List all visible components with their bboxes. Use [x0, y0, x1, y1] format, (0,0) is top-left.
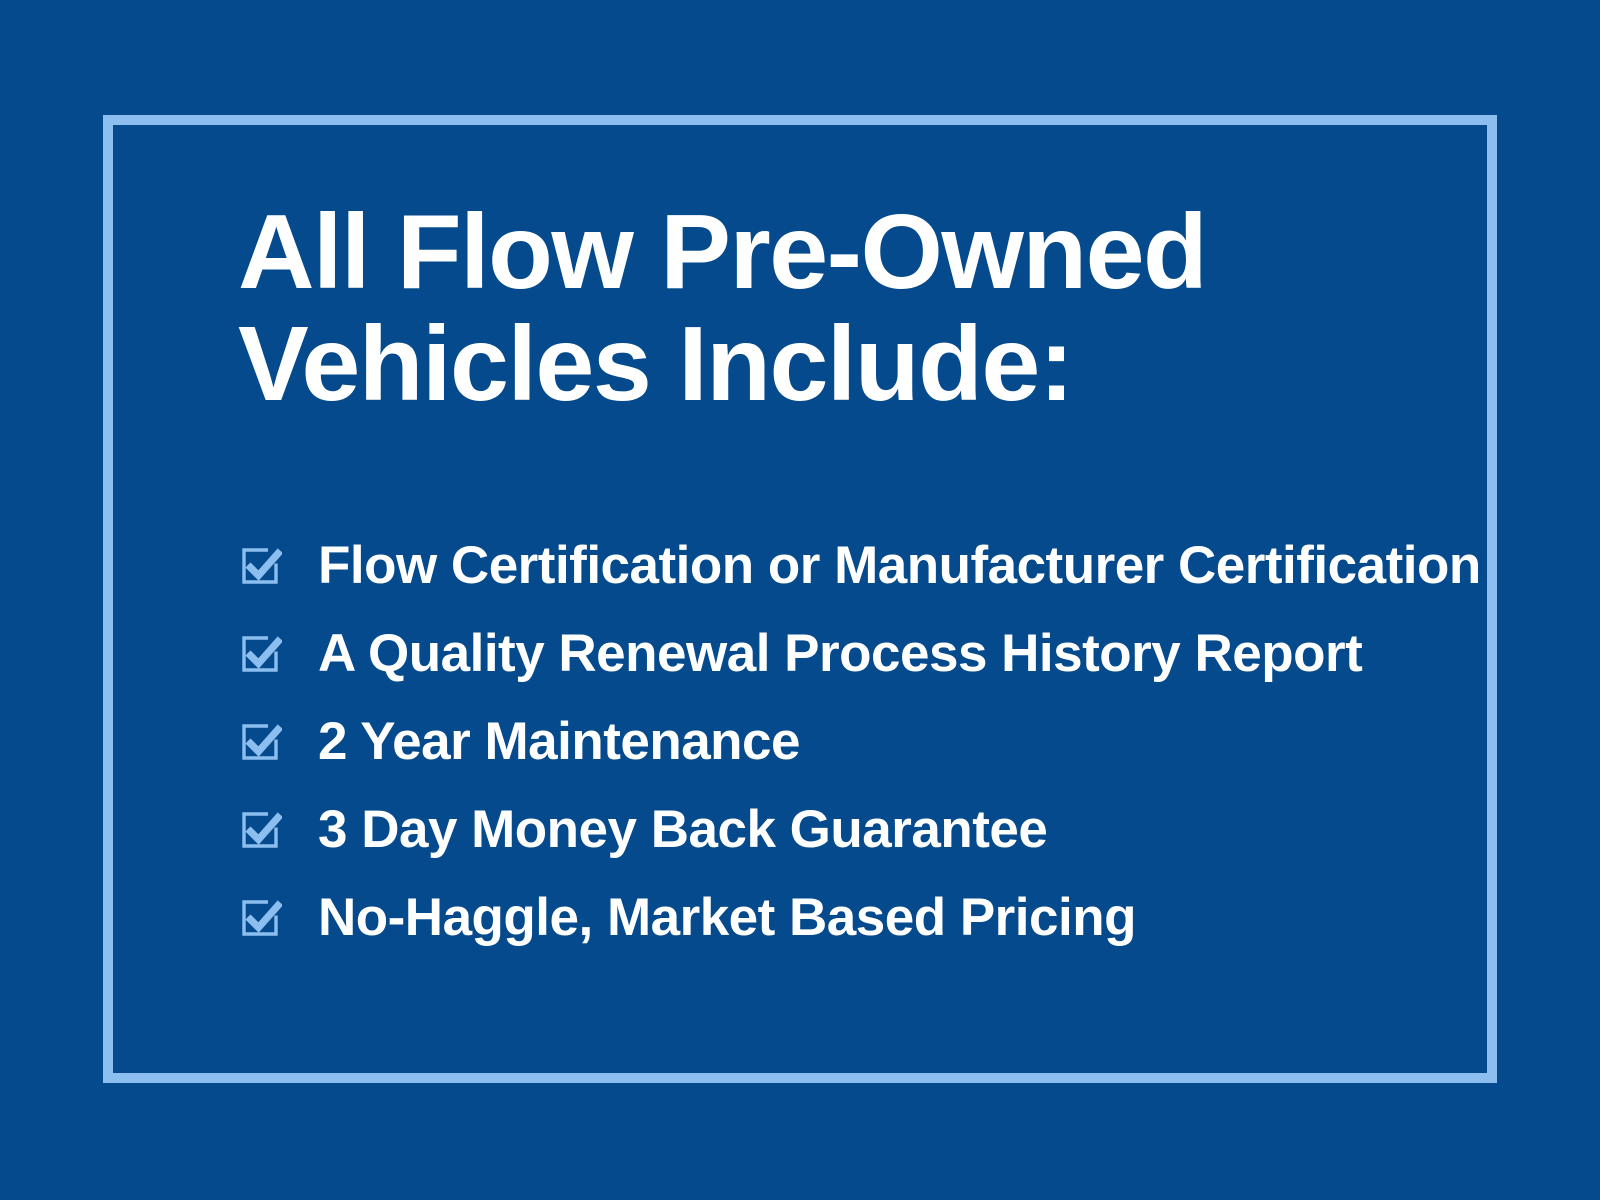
promo-poster: All Flow Pre-Owned Vehicles Include: Flo…	[0, 0, 1600, 1200]
list-item-label: No-Haggle, Market Based Pricing	[318, 890, 1136, 946]
list-item: No-Haggle, Market Based Pricing	[238, 874, 1438, 962]
list-item: Flow Certification or Manufacturer Certi…	[238, 522, 1438, 610]
checked-checkbox-icon	[238, 720, 282, 764]
list-item-label: 2 Year Maintenance	[318, 714, 800, 770]
checked-checkbox-icon	[238, 544, 282, 588]
list-item-label: 3 Day Money Back Guarantee	[318, 802, 1047, 858]
poster-content: All Flow Pre-Owned Vehicles Include: Flo…	[238, 196, 1438, 420]
list-item: 2 Year Maintenance	[238, 698, 1438, 786]
list-item-label: A Quality Renewal Process History Report	[318, 626, 1362, 682]
list-item-label: Flow Certification or Manufacturer Certi…	[318, 538, 1481, 594]
checked-checkbox-icon	[238, 808, 282, 852]
list-item: A Quality Renewal Process History Report	[238, 610, 1438, 698]
list-item: 3 Day Money Back Guarantee	[238, 786, 1438, 874]
page-title: All Flow Pre-Owned Vehicles Include:	[238, 196, 1438, 420]
checked-checkbox-icon	[238, 632, 282, 676]
checked-checkbox-icon	[238, 896, 282, 940]
benefits-checklist: Flow Certification or Manufacturer Certi…	[238, 522, 1438, 962]
